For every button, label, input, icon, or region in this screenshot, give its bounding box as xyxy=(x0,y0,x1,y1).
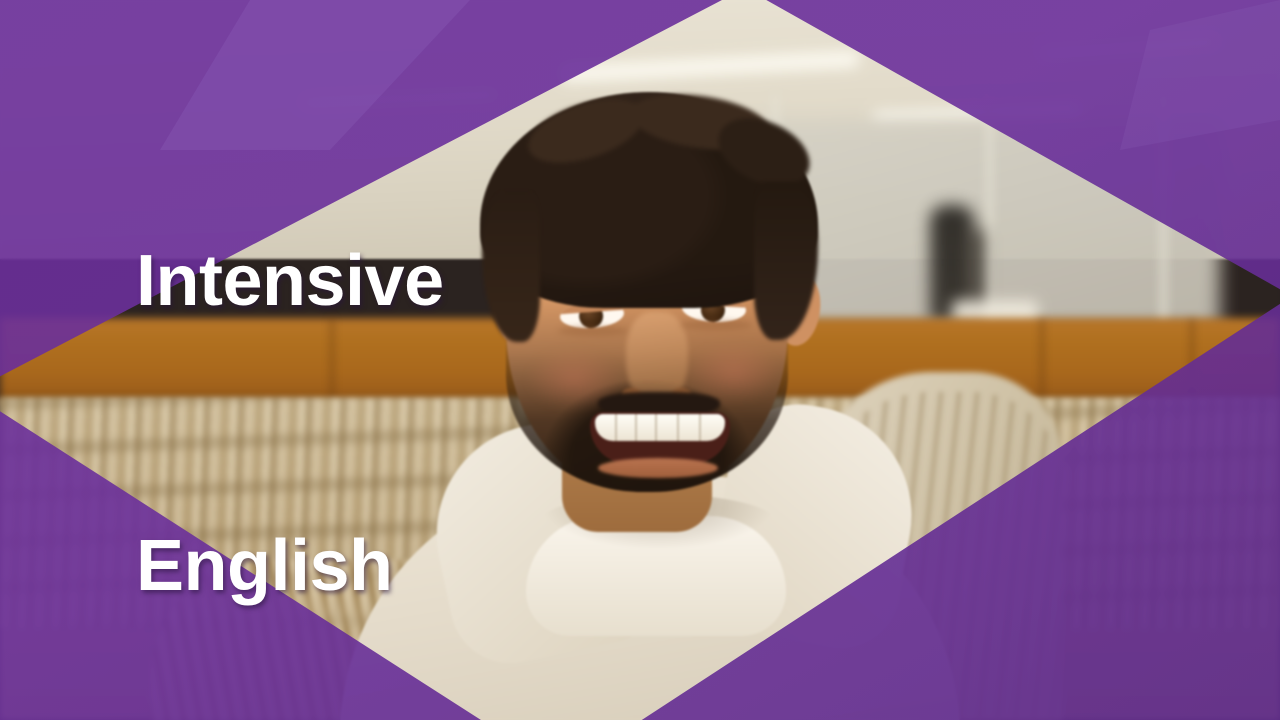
title-line-1: Intensive xyxy=(136,234,472,329)
thumbnail-title: Intensive English Language Program xyxy=(136,44,472,720)
title-line-2: English xyxy=(136,519,472,614)
video-thumbnail: Intensive English Language Program xyxy=(0,0,1280,720)
